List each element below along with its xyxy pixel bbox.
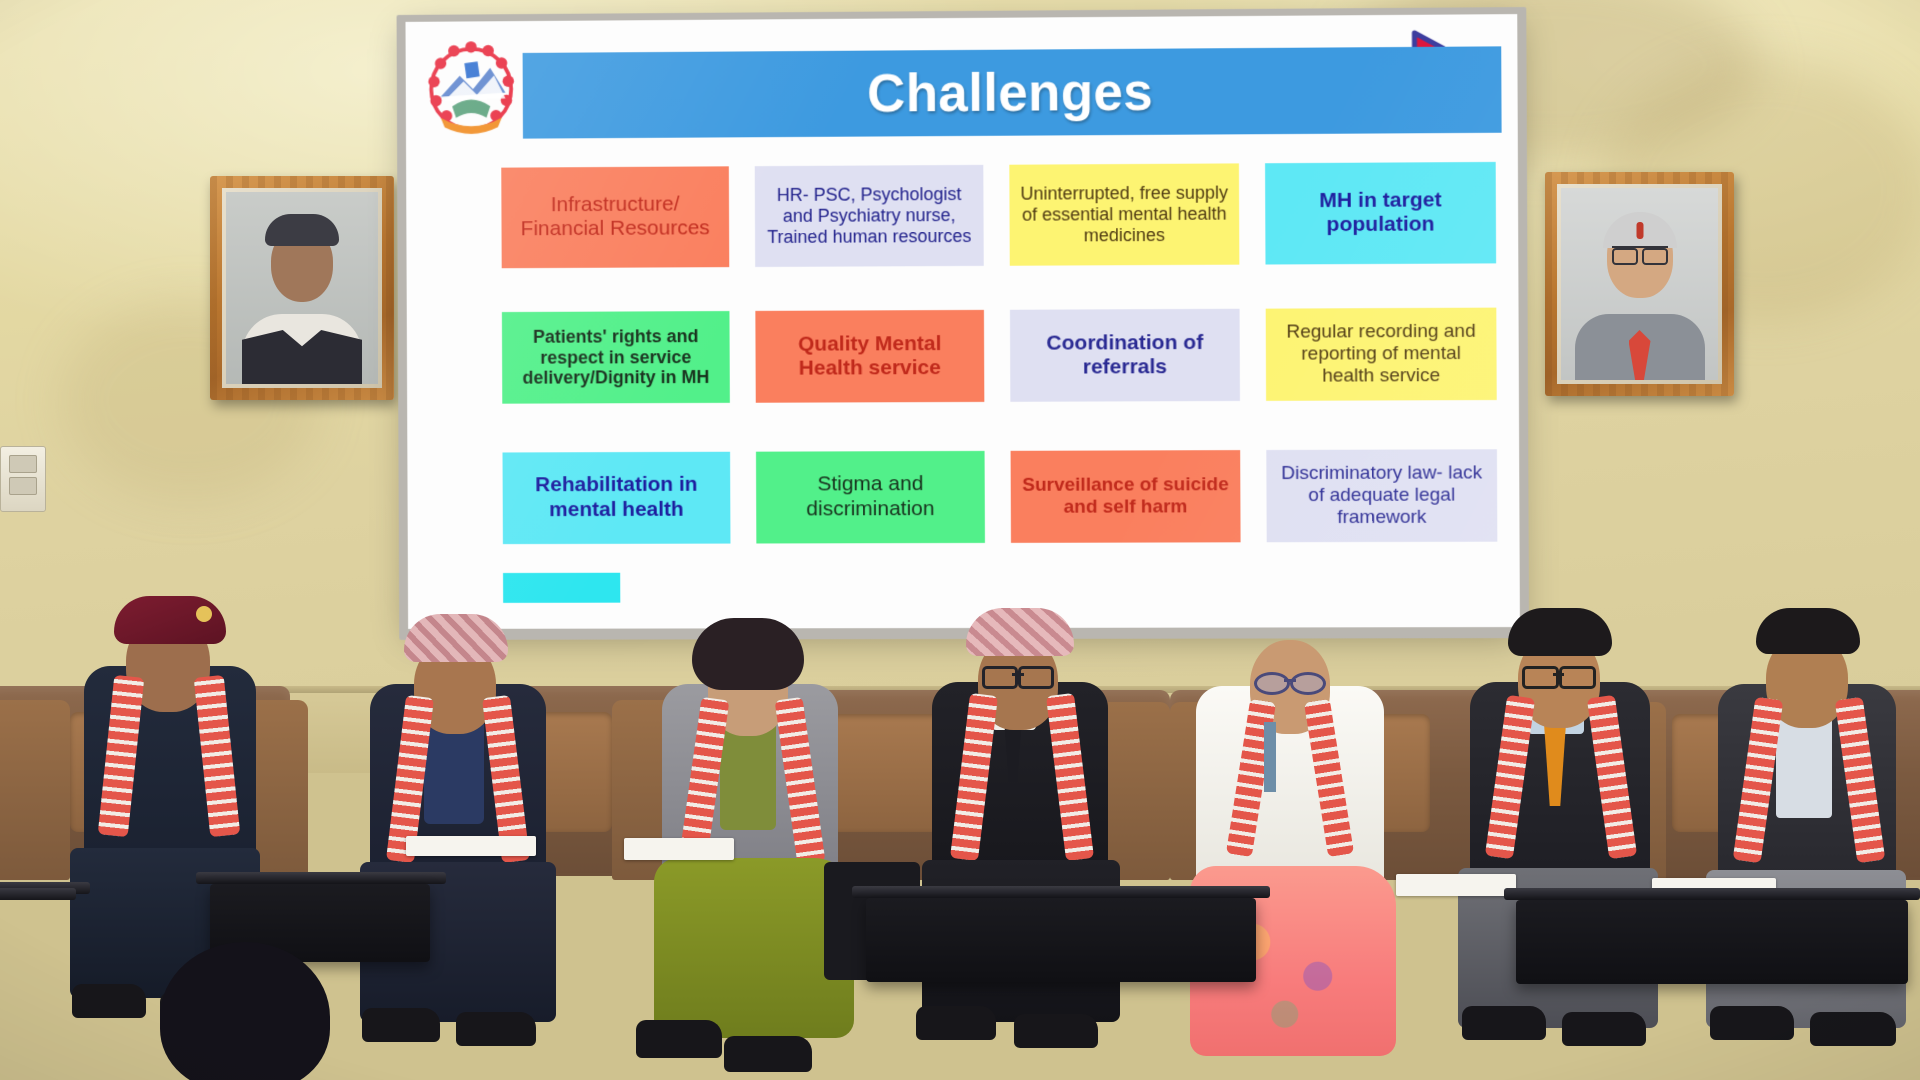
hair: [692, 618, 804, 690]
shoe: [1810, 1012, 1896, 1046]
portrait-photo: [226, 192, 378, 384]
coffee-table: [196, 872, 446, 884]
accent-strip: [503, 573, 620, 603]
challenge-cell: Patients' rights and respect in service …: [502, 300, 730, 415]
challenge-cell: MH in target population: [1265, 155, 1496, 271]
challenge-cell: Infrastructure/ Financial Resources: [501, 159, 729, 275]
conference-room-scene: Challenges Infrastructure/ Financial Res…: [0, 0, 1920, 1080]
panelist-man-dhaka-topi: [348, 600, 578, 1070]
challenge-box[interactable]: Uninterrupted, free supply of essential …: [1009, 163, 1239, 265]
slide-canvas: Challenges Infrastructure/ Financial Res…: [405, 14, 1519, 629]
shoe: [1462, 1006, 1546, 1040]
side-table: [0, 888, 76, 900]
panelist-woman-white: [1180, 594, 1410, 1074]
challenge-cell: Surveillance of suicide and self harm: [1011, 438, 1241, 553]
hair: [1508, 608, 1612, 656]
shoe: [1562, 1012, 1646, 1046]
challenge-box[interactable]: Regular recording and reporting of menta…: [1266, 308, 1497, 401]
challenge-box[interactable]: MH in target population: [1265, 162, 1496, 264]
dhaka-topi: [404, 614, 508, 662]
shoe: [636, 1020, 722, 1058]
eyeglasses-icon: [982, 666, 1054, 684]
challenge-cell: Coordination of referrals: [1010, 297, 1240, 413]
shoe: [1710, 1006, 1794, 1040]
shoe: [1014, 1014, 1098, 1048]
challenge-cell: Uninterrupted, free supply of essential …: [1009, 156, 1239, 272]
laptop-tablet: [406, 836, 536, 856]
panelist-man-glasses: [910, 590, 1140, 1070]
coffee-table: [852, 886, 1270, 898]
document: [1396, 874, 1516, 896]
challenge-box[interactable]: Stigma and discrimination: [756, 451, 985, 543]
audience-member-head: [160, 942, 330, 1080]
shoe: [362, 1008, 440, 1042]
slide-title-bar: Challenges: [523, 46, 1502, 138]
challenge-grid: Infrastructure/ Financial ResourcesHR- P…: [501, 155, 1497, 555]
challenge-cell: Rehabilitation in mental health: [502, 440, 730, 555]
lanyard: [1264, 722, 1276, 792]
shoe: [456, 1012, 536, 1046]
challenge-cell: Quality Mental Health service: [755, 299, 984, 415]
coffee-table-base: [866, 898, 1256, 982]
socket-switch[interactable]: [9, 477, 37, 495]
challenge-box[interactable]: Rehabilitation in mental health: [502, 452, 730, 544]
notepad: [624, 838, 734, 860]
socket-switch[interactable]: [9, 455, 37, 473]
challenge-cell: Discriminatory law- lack of adequate leg…: [1266, 438, 1497, 554]
shoe: [72, 984, 146, 1018]
challenge-box[interactable]: Surveillance of suicide and self harm: [1011, 450, 1241, 543]
nepal-government-emblem: [423, 33, 519, 139]
dhaka-topi: [966, 608, 1074, 656]
challenge-cell: Stigma and discrimination: [756, 439, 985, 554]
hair: [1756, 608, 1860, 654]
panelist-woman-green: [640, 600, 870, 1070]
wall-power-socket[interactable]: [0, 446, 46, 512]
beret-badge: [196, 606, 212, 622]
panelist-man-orange-tie: [1450, 586, 1680, 1066]
shoe: [724, 1036, 812, 1072]
portrait-mat: [1557, 184, 1722, 384]
eyeglasses-icon: [1254, 672, 1326, 690]
challenge-box[interactable]: Patients' rights and respect in service …: [502, 311, 730, 403]
framed-portrait-left: [210, 176, 394, 400]
portrait-mat: [222, 188, 382, 388]
challenge-box[interactable]: Quality Mental Health service: [755, 310, 984, 403]
coffee-table: [1504, 888, 1920, 900]
challenge-cell: HR- PSC, Psychologist and Psychiatry nur…: [755, 158, 984, 274]
challenge-cell: Regular recording and reporting of menta…: [1266, 296, 1497, 412]
coffee-table-base: [1516, 900, 1908, 984]
portrait-photo: [1561, 188, 1718, 380]
challenge-box[interactable]: Discriminatory law- lack of adequate leg…: [1266, 449, 1497, 542]
shoe: [916, 1006, 996, 1040]
challenge-box[interactable]: Coordination of referrals: [1010, 309, 1240, 402]
panelist-man-grey-suit: [1700, 588, 1920, 1068]
projection-screen: Challenges Infrastructure/ Financial Res…: [405, 14, 1519, 629]
challenge-box[interactable]: Infrastructure/ Financial Resources: [501, 166, 729, 268]
slide-title: Challenges: [867, 61, 1153, 124]
framed-portrait-right: [1545, 172, 1734, 396]
eyeglasses-icon: [1522, 666, 1596, 684]
challenge-box[interactable]: HR- PSC, Psychologist and Psychiatry nur…: [755, 165, 984, 267]
